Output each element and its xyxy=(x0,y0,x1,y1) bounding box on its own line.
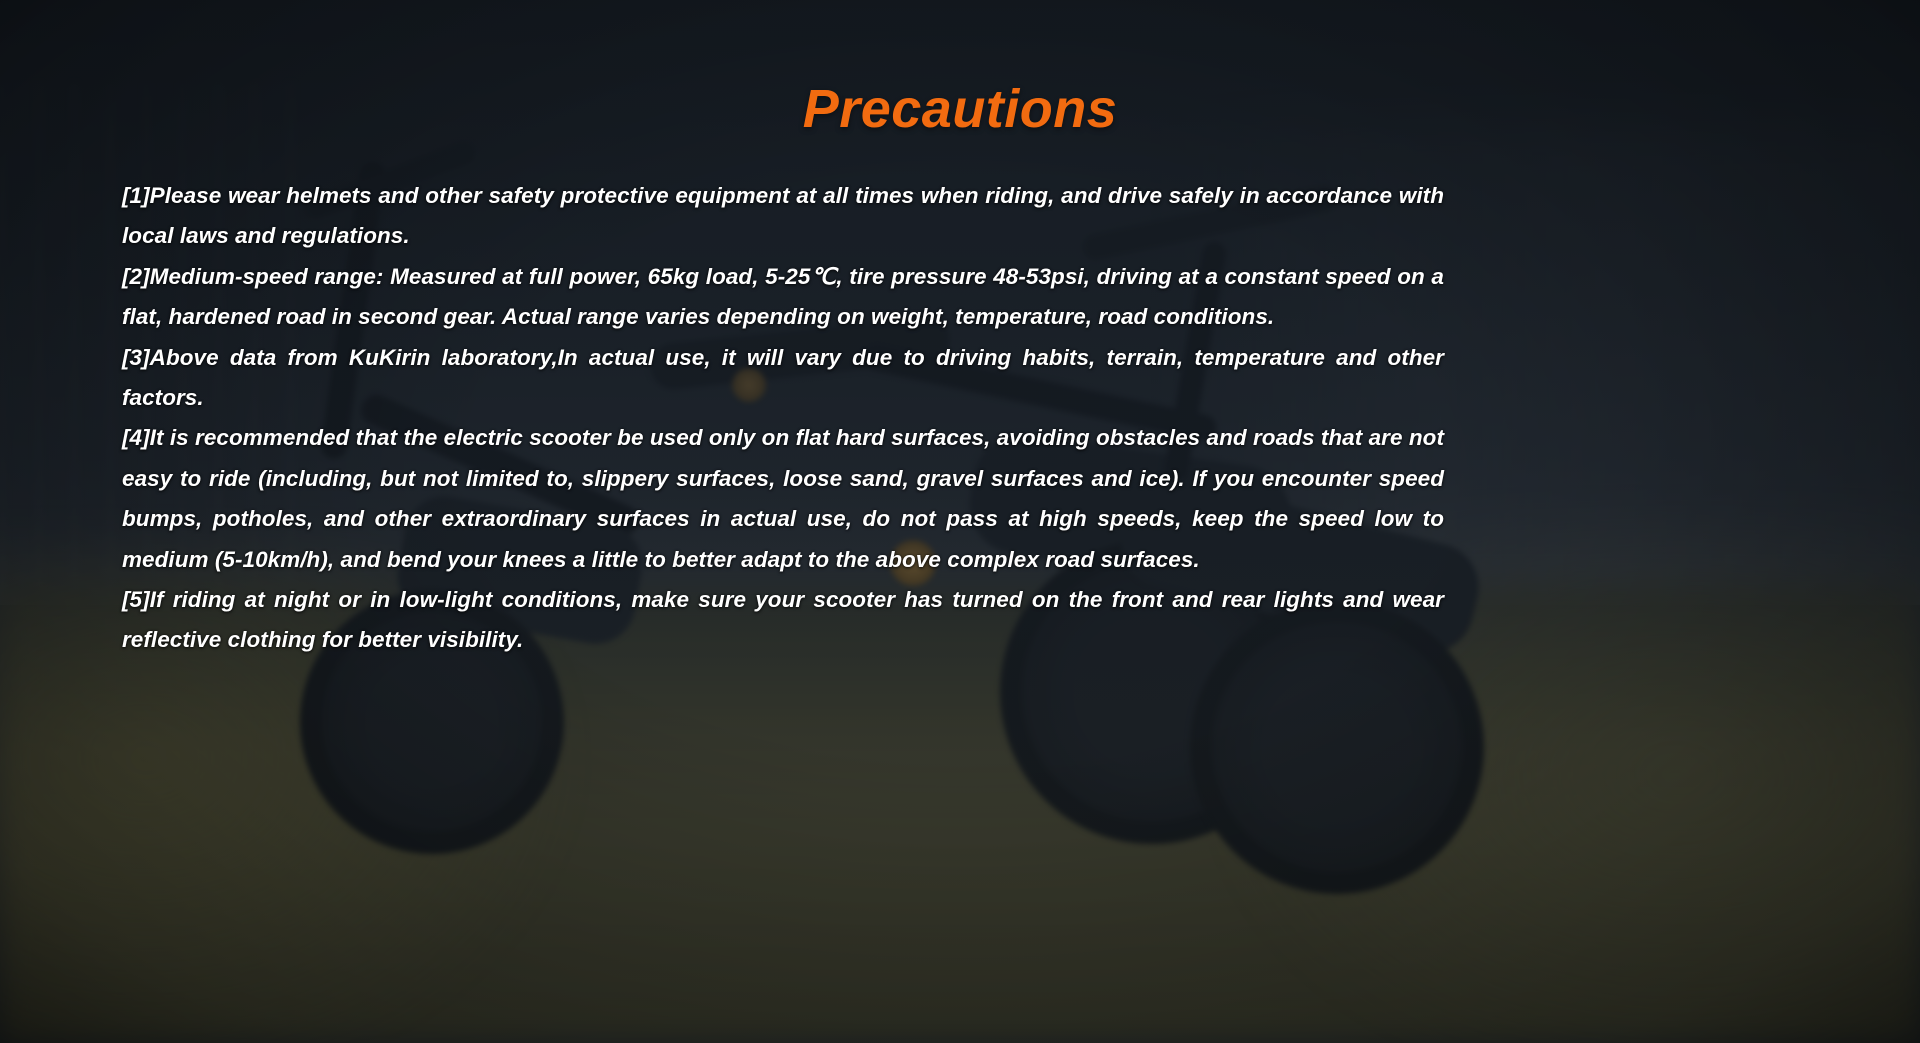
precautions-list: [1]Please wear helmets and other safety … xyxy=(122,176,1444,661)
slide-content: Precautions [1]Please wear helmets and o… xyxy=(0,0,1920,1043)
precaution-item-4: [4]It is recommended that the electric s… xyxy=(122,418,1444,580)
precautions-slide: Precautions [1]Please wear helmets and o… xyxy=(0,0,1920,1043)
precaution-item-5: [5]If riding at night or in low-light co… xyxy=(122,580,1444,661)
page-title: Precautions xyxy=(0,78,1920,140)
precaution-item-1: [1]Please wear helmets and other safety … xyxy=(122,176,1444,257)
precaution-item-2: [2]Medium-speed range: Measured at full … xyxy=(122,257,1444,338)
precaution-item-3: [3]Above data from KuKirin laboratory,In… xyxy=(122,338,1444,419)
